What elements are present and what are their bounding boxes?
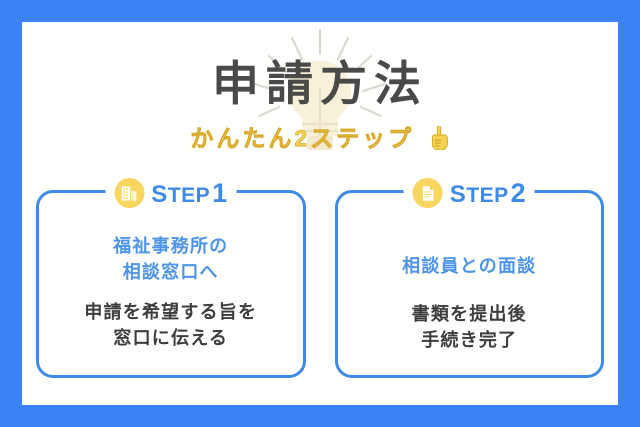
step-2-body: 相談員との面談 書類を提出後 手続き完了: [346, 223, 594, 367]
step-2-heading-line-1: 相談員との面談: [402, 253, 536, 279]
step-1-detail-line-1: 申請を希望する旨を: [84, 299, 257, 325]
step-2-detail-line-2: 手続き完了: [412, 327, 527, 353]
step-1-heading-line-2: 相談窓口へ: [113, 259, 228, 285]
step-2-label-word: STEP: [450, 183, 509, 207]
step-card-2[interactable]: STEP 2 相談員との面談 書類を提出後 手続き完了: [335, 190, 605, 378]
subtitle: かんたん2ステップ: [190, 127, 414, 150]
step-2-detail: 書類を提出後 手続き完了: [412, 301, 527, 353]
page-title-row: 申請方法: [22, 60, 618, 107]
header: 申請方法 かんたん2ステップ: [22, 22, 618, 182]
step-1-label-number: 1: [212, 180, 227, 207]
point-up-finger-icon: [428, 126, 450, 150]
step-1-heading-line-1: 福祉事務所の: [113, 233, 228, 259]
step-2-detail-line-1: 書類を提出後: [412, 301, 527, 327]
office-building-icon: [114, 178, 144, 208]
step-2-label: STEP 2: [450, 180, 526, 207]
step-1-heading: 福祉事務所の 相談窓口へ: [113, 233, 228, 285]
infographic-frame: 申請方法 かんたん2ステップ: [0, 0, 640, 427]
step-2-label-number: 2: [511, 180, 526, 207]
step-1-detail-line-2: 窓口に伝える: [84, 325, 257, 351]
step-1-badge-row: STEP 1: [105, 178, 236, 208]
infographic-card: 申請方法 かんたん2ステップ: [22, 22, 618, 405]
step-2-heading: 相談員との面談: [402, 253, 536, 279]
step-1-body: 福祉事務所の 相談窓口へ 申請を希望する旨を 窓口に伝える: [47, 223, 295, 367]
page-title: 申請方法: [212, 60, 428, 107]
steps-container: STEP 1 福祉事務所の 相談窓口へ 申請を希望する旨を 窓口に伝える: [36, 190, 604, 378]
step-card-1[interactable]: STEP 1 福祉事務所の 相談窓口へ 申請を希望する旨を 窓口に伝える: [36, 190, 306, 378]
step-1-label: STEP 1: [151, 180, 227, 207]
step-1-label-word: STEP: [151, 183, 210, 207]
step-2-badge-row: STEP 2: [404, 178, 535, 208]
step-1-detail: 申請を希望する旨を 窓口に伝える: [84, 299, 257, 351]
subtitle-row: かんたん2ステップ: [22, 126, 618, 150]
document-icon: [413, 178, 443, 208]
